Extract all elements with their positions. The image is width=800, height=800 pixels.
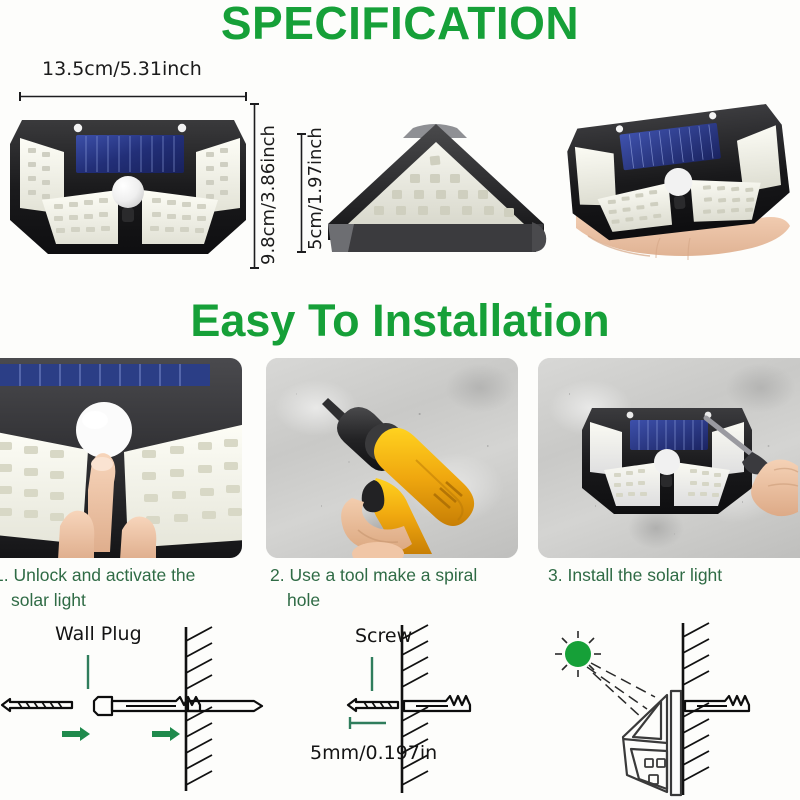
photo-install-light	[538, 358, 800, 558]
product-front-view	[8, 104, 248, 269]
step-1-line2: solar light	[0, 588, 239, 613]
step-2-number: 2.	[270, 565, 285, 585]
photo-drill-hole	[266, 358, 518, 558]
step-2-line1: Use a tool make a spiral	[289, 565, 477, 585]
mounting-diagrams: Wall Plug Screw 5mm/0.197in	[0, 617, 800, 800]
photo-unlock-activate	[0, 358, 242, 558]
mounting-light-image	[538, 358, 800, 558]
sun-icon	[565, 641, 591, 667]
installation-photos	[0, 358, 800, 558]
finger-pressing-sensor-image	[0, 358, 242, 558]
installation-captions: 1. Unlock and activate the solar light 2…	[0, 563, 800, 619]
caption-step-3: 3. Install the solar light	[548, 563, 798, 588]
screw-into-plug-diagram	[290, 617, 540, 800]
drill-image	[266, 358, 518, 558]
width-dimension-label: 13.5cm/5.31inch	[42, 58, 202, 80]
caption-step-1: 1. Unlock and activate the solar light	[0, 563, 239, 613]
wall-plug-insertion-diagram	[0, 617, 270, 800]
width-dimension-line	[18, 91, 248, 102]
specification-title: SPECIFICATION	[0, 0, 800, 50]
step-1-line1: Unlock and activate the	[13, 565, 195, 585]
height-dimension-label: 9.8cm/3.86inch	[258, 105, 279, 265]
product-in-hand-view	[560, 100, 798, 278]
product-side-view	[318, 120, 553, 260]
step-2-line2: hole	[270, 588, 520, 613]
easy-installation-title: Easy To Installation	[0, 295, 800, 347]
caption-step-2: 2. Use a tool make a spiral hole	[270, 563, 520, 613]
infographic-page: SPECIFICATION 13.5cm/5.31inch	[0, 0, 800, 800]
mounted-light-sun-diagram	[535, 617, 800, 800]
step-3-number: 3.	[548, 565, 563, 585]
step-1-number: 1.	[0, 565, 9, 585]
specification-section: 13.5cm/5.31inch	[0, 58, 800, 288]
step-3-line1: Install the solar light	[567, 565, 722, 585]
